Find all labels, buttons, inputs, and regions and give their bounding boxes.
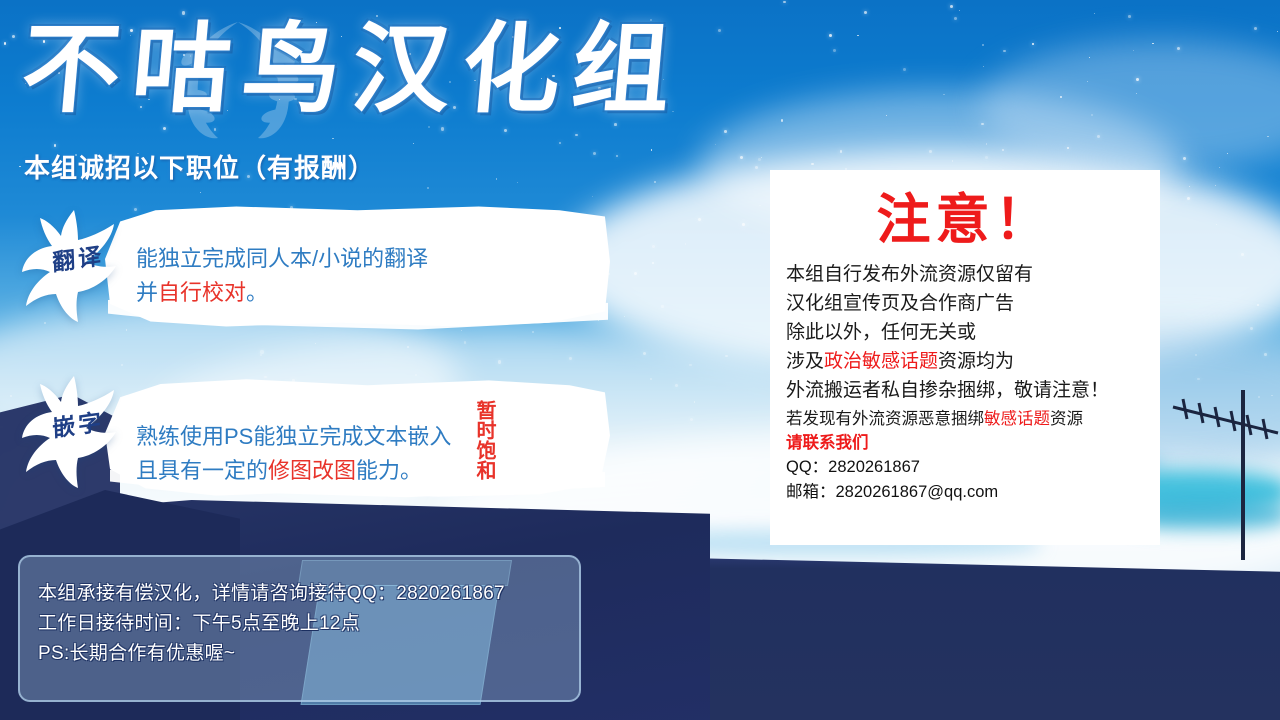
warning-highlight: 敏感话题 (984, 410, 1050, 428)
desc-highlight: 修图改图 (268, 458, 356, 483)
notice-warning: 若发现有外流资源恶意捆绑敏感话题资源 (786, 407, 1144, 431)
footer-line-2: 工作日接待时间：下午5点至晚上12点 (38, 609, 579, 639)
desc-suffix: 。 (246, 280, 268, 305)
desc-highlight: 自行校对 (158, 280, 246, 305)
notice-title: 注意！ (786, 188, 1144, 252)
footer-info-panel: 本组承接有偿汉化，详情请咨询接待QQ：2820261867 工作日接待时间：下午… (18, 555, 581, 702)
tv-antenna-icon (1165, 385, 1280, 560)
notice-line-5: 外流搬运者私自掺杂捆绑，敬请注意！ (786, 376, 1144, 405)
notice-prefix: 涉及 (786, 351, 824, 372)
desc-line-2: 并自行校对。 (136, 276, 428, 310)
notice-suffix: 资源均为 (938, 351, 1014, 372)
notice-body: 本组自行发布外流资源仅留有 汉化组宣传页及合作商广告 除此以外，任何无关或 涉及… (786, 260, 1144, 405)
contact-email: 邮箱：2820261867@qq.com (786, 480, 1144, 505)
warning-prefix: 若发现有外流资源恶意捆绑 (786, 410, 984, 428)
desc-line-1: 熟练使用PS能独立完成文本嵌入 (136, 420, 451, 454)
notice-line-4: 涉及政治敏感话题资源均为 (786, 347, 1144, 376)
status-badge-saturated: 暂时饱和 (472, 400, 495, 480)
recruit-subtitle: 本组诚招以下职位（有报酬） (24, 148, 375, 185)
position-description-translation: 能独立完成同人本/小说的翻译 并自行校对。 (136, 242, 428, 310)
footer-line-3: PS:长期合作有优惠喔~ (38, 639, 579, 669)
page-title: 不咕鸟汉化组 (16, 10, 767, 140)
dove-icon-typesetting: 嵌字 (16, 372, 136, 490)
dove-icon-translation: 翻译 (16, 206, 136, 324)
notice-line-3: 除此以外，任何无关或 (786, 318, 1144, 347)
desc-line-2: 且具有一定的修图改图能力。 (136, 454, 451, 488)
position-description-typesetting: 熟练使用PS能独立完成文本嵌入 且具有一定的修图改图能力。 (136, 420, 451, 488)
notice-line-2: 汉化组宣传页及合作商广告 (786, 289, 1144, 318)
notice-line-1: 本组自行发布外流资源仅留有 (786, 260, 1144, 289)
poster-canvas: 不咕鸟汉化组 本组诚招以下职位（有报酬） 翻译 能独立完成同人本/小说的翻译 并… (0, 0, 1280, 720)
desc-prefix: 且具有一定的 (136, 458, 268, 483)
desc-suffix: 能力。 (356, 458, 422, 483)
footer-line-1: 本组承接有偿汉化，详情请咨询接待QQ：2820261867 (38, 579, 579, 609)
desc-line-1: 能独立完成同人本/小说的翻译 (136, 242, 428, 276)
notice-highlight: 政治敏感话题 (824, 351, 938, 372)
contact-us-callout: 请联系我们 (786, 431, 1144, 455)
notice-panel: 注意！ 本组自行发布外流资源仅留有 汉化组宣传页及合作商广告 除此以外，任何无关… (770, 170, 1160, 545)
desc-prefix: 并 (136, 280, 158, 305)
contact-qq: QQ：2820261867 (786, 455, 1144, 480)
warning-suffix: 资源 (1050, 410, 1083, 428)
